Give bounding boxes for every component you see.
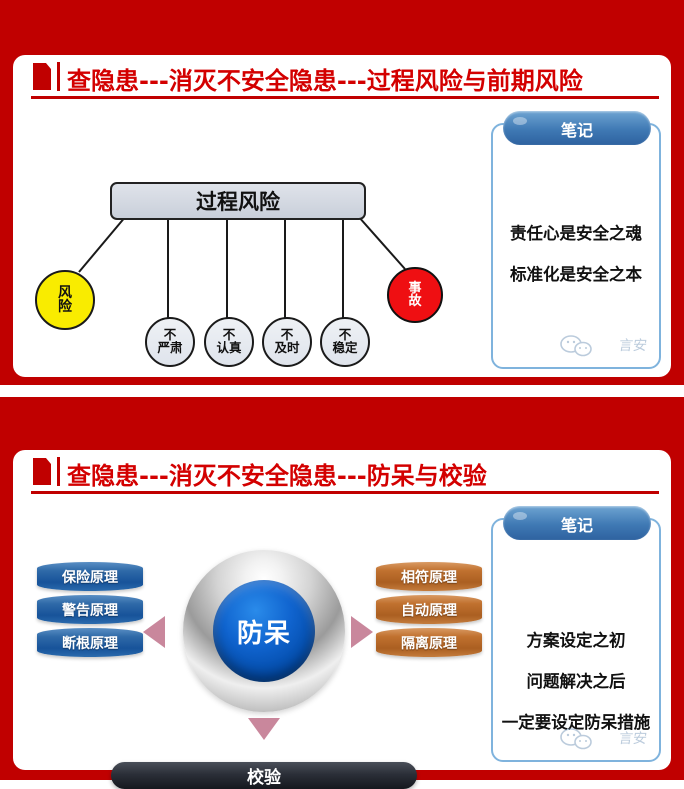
bottom-bar-label: 校验 <box>247 763 281 788</box>
header-divider <box>57 62 60 91</box>
notes-title-label: 笔记 <box>503 117 651 141</box>
notes-title-pill-2: 笔记 <box>503 506 651 540</box>
branch-node-4: 不 稳定 <box>320 317 370 367</box>
left-principle-3-label: 断根原理 <box>62 633 118 653</box>
notes-line: 方案设定之初 <box>499 627 653 651</box>
notes-title-pill-1: 笔记 <box>503 111 651 145</box>
slide-separator <box>0 385 684 397</box>
right-principle-1: 相符原理 <box>376 562 482 591</box>
notes-line: 问题解决之后 <box>499 668 653 692</box>
node-accident-label-2: 故 <box>408 295 421 308</box>
arrow-down-icon <box>248 718 280 740</box>
branch-node-1: 不 严肃 <box>145 317 195 367</box>
page-title: 查隐患---消灭不安全隐患---防呆与校验 <box>67 456 487 491</box>
node-risk-start: 风 险 <box>35 270 95 330</box>
node-accident-label-1: 事 <box>408 282 421 295</box>
branch-node-2-line2: 认真 <box>216 342 241 355</box>
red-flag-icon <box>33 63 51 90</box>
branch-node-1-line2: 严肃 <box>157 342 182 355</box>
hub-ring: 防呆 <box>183 550 345 712</box>
slide-1-body: 查隐患---消灭不安全隐患---过程风险与前期风险 过程风险 风 <box>13 55 671 377</box>
left-principle-1: 保险原理 <box>37 562 143 591</box>
page-title: 查隐患---消灭不安全隐患---过程风险与前期风险 <box>67 61 583 96</box>
branch-node-4-line2: 稳定 <box>332 342 357 355</box>
bottom-bar-verification: 校验 <box>111 762 417 789</box>
right-principle-2: 自动原理 <box>376 595 482 624</box>
arrow-right-icon <box>351 616 373 648</box>
branch-node-3: 不 及时 <box>262 317 312 367</box>
slide-2-diagram: 防呆 保险原理 警告原理 断根原理 相符原理 <box>13 492 475 770</box>
watermark-text: 言安 <box>618 335 649 355</box>
right-principles-group: 相符原理 自动原理 隔离原理 <box>376 562 482 661</box>
notes-panel-2: 方案设定之初 问题解决之后 一定要设定防呆措施 言安 <box>491 506 661 762</box>
right-principle-2-label: 自动原理 <box>401 600 457 620</box>
node-risk-label-1: 风 <box>58 286 72 300</box>
left-principles-group: 保险原理 警告原理 断根原理 <box>37 562 143 661</box>
left-principle-2: 警告原理 <box>37 595 143 624</box>
notes-body-1: 责任心是安全之魂 标准化是安全之本 言安 <box>491 123 661 369</box>
right-principle-3-label: 隔离原理 <box>401 633 457 653</box>
right-principle-3: 隔离原理 <box>376 628 482 657</box>
watermark-1: 言安 <box>557 333 649 359</box>
watermark-text: 言安 <box>618 728 649 748</box>
slide-2-body: 查隐患---消灭不安全隐患---防呆与校验 防呆 保险原理 <box>13 450 671 770</box>
node-accident-end: 事 故 <box>387 267 443 323</box>
wechat-icon <box>557 334 597 358</box>
branch-node-3-line2: 及时 <box>274 342 299 355</box>
left-principle-2-label: 警告原理 <box>62 600 118 620</box>
hub-center: 防呆 <box>213 580 315 682</box>
notes-line: 责任心是安全之魂 <box>499 220 653 244</box>
notes-text-1: 责任心是安全之魂 标准化是安全之本 <box>499 203 653 302</box>
red-flag-icon <box>33 458 51 485</box>
node-risk-label-2: 险 <box>58 300 72 314</box>
slide-2: 查隐患---消灭不安全隐患---防呆与校验 防呆 保险原理 <box>0 397 684 780</box>
slideshow-page: 查隐患---消灭不安全隐患---过程风险与前期风险 过程风险 风 <box>0 0 684 780</box>
slide-1-header: 查隐患---消灭不安全隐患---过程风险与前期风险 <box>13 55 671 97</box>
notes-body-2: 方案设定之初 问题解决之后 一定要设定防呆措施 言安 <box>491 518 661 762</box>
branch-node-2: 不 认真 <box>204 317 254 367</box>
slide-1-diagram: 过程风险 风 险 事 故 不 严肃 不 认真 <box>13 97 473 377</box>
root-node-label: 过程风险 <box>196 186 280 216</box>
wechat-icon <box>557 727 597 751</box>
notes-line: 标准化是安全之本 <box>499 261 653 285</box>
arrow-left-icon <box>143 616 165 648</box>
left-principle-1-label: 保险原理 <box>62 567 118 587</box>
watermark-2: 言安 <box>557 726 649 752</box>
notes-title-label: 笔记 <box>503 512 651 536</box>
right-principle-1-label: 相符原理 <box>401 567 457 587</box>
slide-2-header: 查隐患---消灭不安全隐患---防呆与校验 <box>13 450 671 492</box>
root-node-process-risk: 过程风险 <box>110 182 366 220</box>
hub-center-label: 防呆 <box>237 613 291 650</box>
notes-panel-1: 责任心是安全之魂 标准化是安全之本 言安 笔记 <box>491 111 661 369</box>
slide-1: 查隐患---消灭不安全隐患---过程风险与前期风险 过程风险 风 <box>0 0 684 385</box>
header-divider <box>57 457 60 486</box>
left-principle-3: 断根原理 <box>37 628 143 657</box>
